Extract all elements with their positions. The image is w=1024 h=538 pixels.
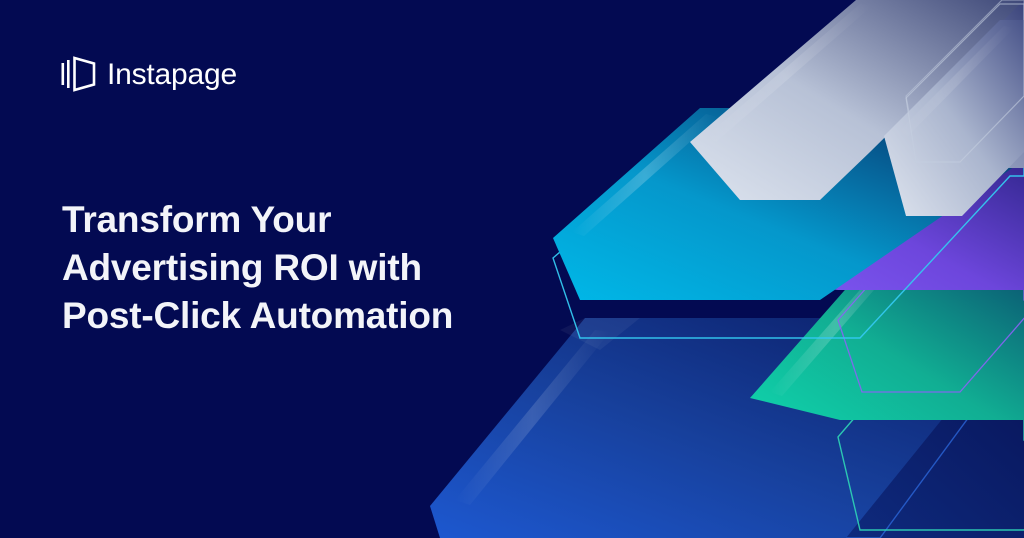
headline-line-1: Transform Your: [62, 196, 532, 244]
instapage-page-mark-icon: [60, 54, 98, 94]
brand-name: Instapage: [107, 60, 237, 90]
page-title: Transform Your Advertising ROI with Post…: [62, 196, 532, 340]
headline-line-2: Advertising ROI with: [62, 244, 532, 292]
hero-banner: Instapage Transform Your Advertising ROI…: [0, 0, 1024, 538]
headline-line-3: Post-Click Automation: [62, 292, 532, 340]
brand-logo[interactable]: Instapage: [60, 52, 237, 96]
